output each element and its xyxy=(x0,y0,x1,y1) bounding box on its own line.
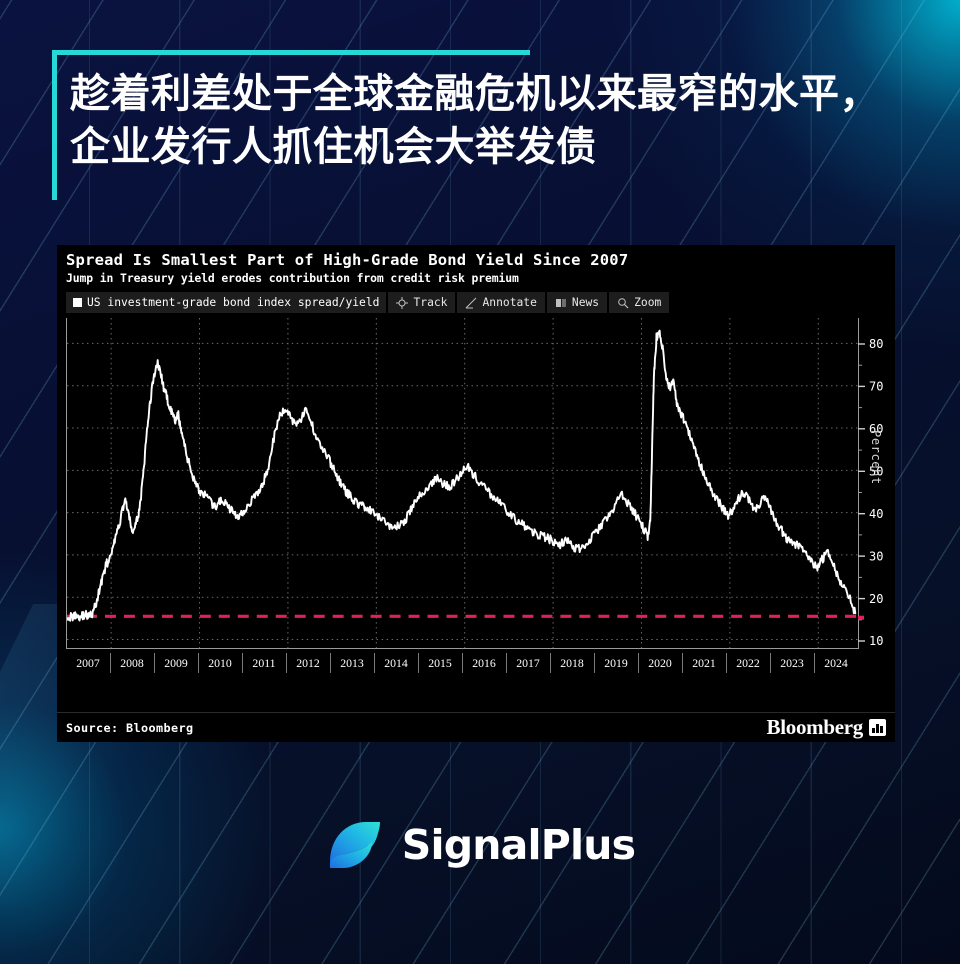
x-tick-2008: 2008 xyxy=(110,650,154,676)
x-tick-2021: 2021 xyxy=(682,650,726,676)
legend-chip[interactable]: US investment-grade bond index spread/yi… xyxy=(66,292,386,313)
headline-text: 趁着利差处于全球金融危机以来最窄的水平，企业发行人抓住机会大举发债 xyxy=(70,68,900,174)
chart-plot-svg xyxy=(67,318,858,648)
svg-text:40: 40 xyxy=(869,507,883,521)
track-button[interactable]: Track xyxy=(388,292,455,313)
legend-label: US investment-grade bond index spread/yi… xyxy=(87,296,379,309)
chart-plot-area xyxy=(66,318,858,649)
chart-title: Spread Is Smallest Part of High-Grade Bo… xyxy=(66,251,628,269)
x-tick-2024: 2024 xyxy=(814,650,858,676)
x-tick-2019: 2019 xyxy=(594,650,638,676)
poster-root: 趁着利差处于全球金融危机以来最窄的水平，企业发行人抓住机会大举发债 Spread… xyxy=(0,0,960,964)
crosshair-icon xyxy=(396,297,408,309)
bloomberg-logo: Bloomberg xyxy=(767,715,886,740)
x-tick-2023: 2023 xyxy=(770,650,814,676)
zoom-label: Zoom xyxy=(634,296,661,309)
bloomberg-chart-panel: Spread Is Smallest Part of High-Grade Bo… xyxy=(57,245,895,742)
x-tick-2011: 2011 xyxy=(242,650,286,676)
x-tick-2010: 2010 xyxy=(198,650,242,676)
y-axis-label: Percent xyxy=(869,430,883,485)
bloomberg-wordmark: Bloomberg xyxy=(767,715,863,740)
x-tick-2009: 2009 xyxy=(154,650,198,676)
chart-subtitle: Jump in Treasury yield erodes contributi… xyxy=(66,271,519,285)
svg-text:80: 80 xyxy=(869,337,883,351)
diagonal-line-icon xyxy=(465,297,477,309)
x-tick-2012: 2012 xyxy=(286,650,330,676)
legend-color-swatch xyxy=(73,298,82,307)
svg-text:30: 30 xyxy=(869,549,883,563)
svg-text:20: 20 xyxy=(869,592,883,606)
svg-text:10: 10 xyxy=(869,634,883,648)
source-label: Source: Bloomberg xyxy=(66,721,194,735)
x-tick-2014: 2014 xyxy=(374,650,418,676)
chart-x-axis: 2007200820092010201120122013201420152016… xyxy=(66,650,858,676)
news-document-icon xyxy=(555,297,567,309)
x-tick-2018: 2018 xyxy=(550,650,594,676)
annotate-label: Annotate xyxy=(482,296,536,309)
news-button[interactable]: News xyxy=(547,292,607,313)
x-tick-2016: 2016 xyxy=(462,650,506,676)
signalplus-logo: SignalPlus xyxy=(0,816,960,874)
magnifier-icon xyxy=(617,297,629,309)
x-tick-2020: 2020 xyxy=(638,650,682,676)
svg-text:70: 70 xyxy=(869,380,883,394)
x-tick-2007: 2007 xyxy=(66,650,110,676)
x-tick-2015: 2015 xyxy=(418,650,462,676)
x-tick-2013: 2013 xyxy=(330,650,374,676)
signalplus-wordmark: SignalPlus xyxy=(402,821,636,869)
track-label: Track xyxy=(413,296,447,309)
bloomberg-bar-chart-icon xyxy=(869,719,886,736)
x-tick-2017: 2017 xyxy=(506,650,550,676)
news-label: News xyxy=(572,296,599,309)
signalplus-mark-icon xyxy=(325,816,385,874)
annotate-button[interactable]: Annotate xyxy=(457,292,544,313)
headline-block: 趁着利差处于全球金融危机以来最窄的水平，企业发行人抓住机会大举发债 xyxy=(52,50,897,205)
zoom-button[interactable]: Zoom xyxy=(609,292,669,313)
chart-footer: Source: Bloomberg Bloomberg xyxy=(57,712,895,742)
x-tick-2022: 2022 xyxy=(726,650,770,676)
chart-toolbar: US investment-grade bond index spread/yi… xyxy=(66,292,669,313)
